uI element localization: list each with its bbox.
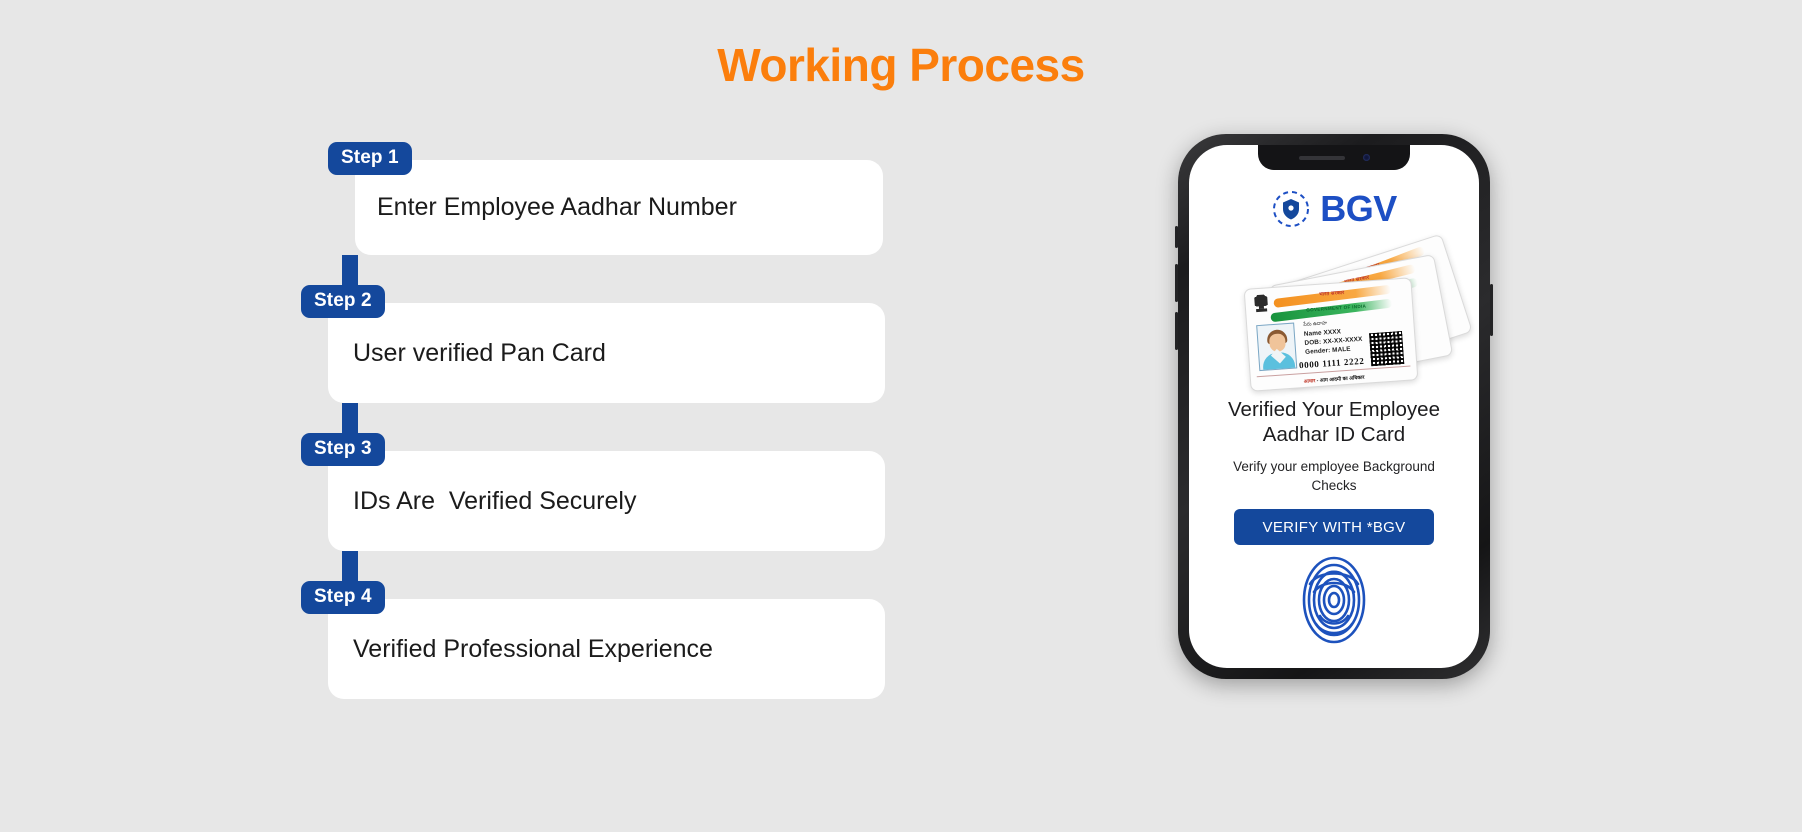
front-camera-icon (1363, 154, 1370, 161)
shield-check-circle-icon (1271, 189, 1311, 229)
step-card-1[interactable]: Step 1 Enter Employee Aadhar Number (355, 160, 883, 255)
page-title: Working Process (0, 38, 1802, 92)
aadhaar-number: 0000 1111 2222 (1299, 356, 1365, 371)
aadhaar-slogan: आधार - आम आदमी का अधिकार (1251, 371, 1417, 389)
step-block-1: Step 1 Enter Employee Aadhar Number (328, 160, 908, 303)
step-text-2: User verified Pan Card (328, 339, 606, 368)
step-badge-4: Step 4 (301, 581, 385, 614)
id-photo (1256, 323, 1297, 372)
steps-list: Step 1 Enter Employee Aadhar Number Step… (328, 160, 908, 699)
india-emblem-icon (1254, 294, 1268, 314)
phone-heading: Verified Your Employee Aadhar ID Card (1203, 397, 1465, 447)
earpiece-speaker-icon (1299, 156, 1345, 160)
phone-volume-down-button[interactable] (1175, 312, 1178, 350)
step-card-2[interactable]: Step 2 User verified Pan Card (328, 303, 885, 403)
phone-notch (1258, 145, 1410, 170)
step-badge-1: Step 1 (328, 142, 412, 175)
step-badge-2: Step 2 (301, 285, 385, 318)
bgv-wordmark: BGV (1320, 191, 1397, 227)
phone-mute-switch[interactable] (1175, 226, 1178, 248)
slogan-rest: - आम आदमी का अधिकार (1315, 375, 1365, 384)
phone-volume-up-button[interactable] (1175, 264, 1178, 302)
phone-screen: BGV भारत सरकार भारत सरकार भारत सरकार (1189, 145, 1479, 668)
id-field-group: Name XXXX DOB: XX-XX-XXXX Gender: MALE (1304, 326, 1364, 357)
step-block-3: Step 3 IDs Are Verified Securely (328, 451, 908, 599)
step-text-4: Verified Professional Experience (328, 635, 713, 664)
step-card-3[interactable]: Step 3 IDs Are Verified Securely (328, 451, 885, 551)
bgv-logo: BGV (1189, 189, 1479, 229)
step-text-1: Enter Employee Aadhar Number (355, 193, 737, 222)
step-block-4: Step 4 Verified Professional Experience (328, 599, 908, 699)
aadhaar-card-front[interactable]: भारत सरकार GOVERNMENT OF INDIA పేరు ఉదాహ… (1244, 277, 1419, 391)
slogan-prefix: आधार (1304, 378, 1316, 385)
step-text-3: IDs Are Verified Securely (328, 487, 636, 516)
phone-subheading: Verify your employee Background Checks (1209, 457, 1459, 495)
fingerprint-icon[interactable] (1296, 554, 1372, 646)
step-card-4[interactable]: Step 4 Verified Professional Experience (328, 599, 885, 699)
step-badge-3: Step 3 (301, 433, 385, 466)
qr-code-icon (1369, 331, 1404, 366)
verify-with-bgv-button[interactable]: VERIFY WITH *BGV (1234, 509, 1434, 545)
aadhaar-card-stack: भारत सरकार भारत सरकार भारत सरकार GOVERNM… (1189, 245, 1479, 380)
phone-mockup: BGV भारत सरकार भारत सरकार भारत सरकार (1178, 134, 1490, 679)
step-block-2: Step 2 User verified Pan Card (328, 303, 908, 451)
phone-power-button[interactable] (1490, 284, 1493, 336)
